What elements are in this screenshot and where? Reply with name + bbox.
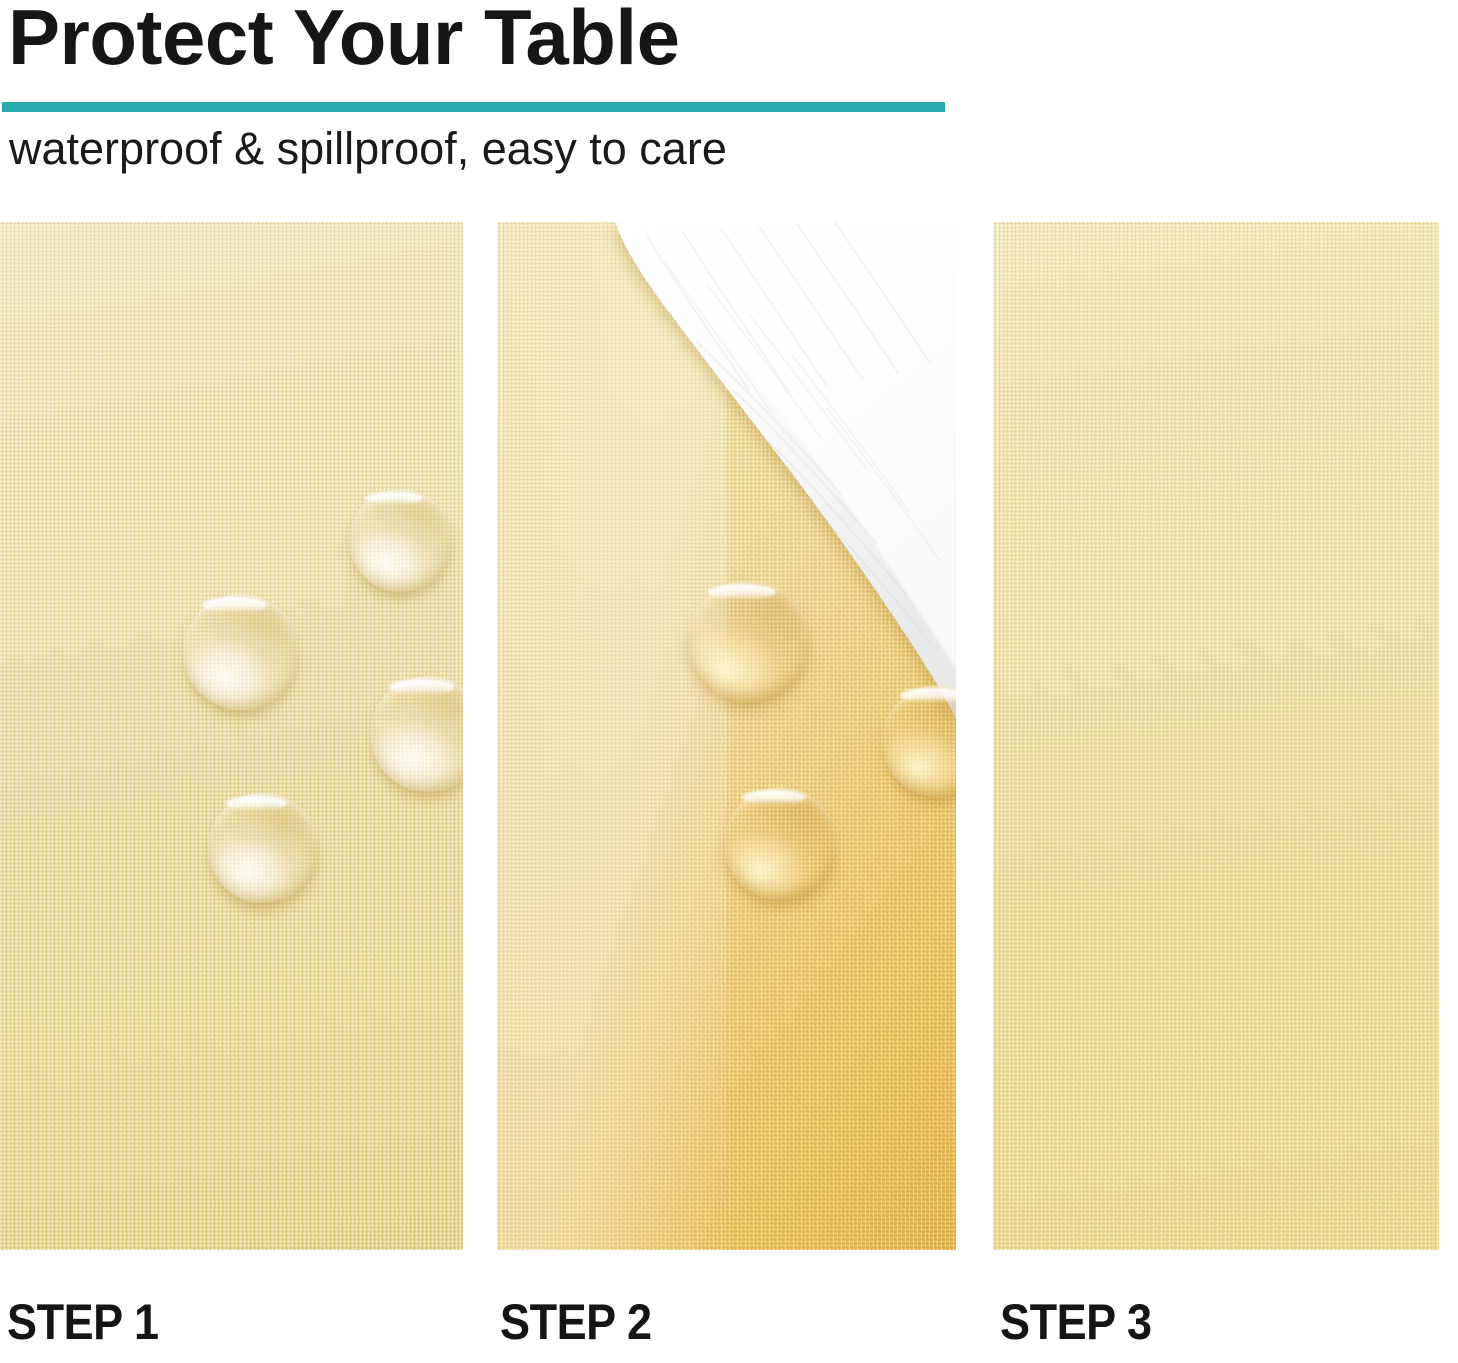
droplet-highlight bbox=[226, 796, 288, 810]
step-label-row: STEP 1 STEP 2 STEP 3 bbox=[0, 1297, 1458, 1363]
water-droplet bbox=[349, 489, 452, 592]
water-droplet bbox=[724, 787, 837, 900]
water-droplet bbox=[208, 793, 318, 903]
droplet-highlight bbox=[742, 790, 805, 805]
page-title: Protect Your Table bbox=[8, 0, 679, 76]
droplet-highlight bbox=[365, 492, 423, 505]
step-3-label: STEP 3 bbox=[1000, 1297, 1152, 1347]
product-feature-graphic: Protect Your Table waterproof & spillpro… bbox=[0, 0, 1458, 1363]
page-subtitle: waterproof & spillproof, easy to care bbox=[9, 124, 727, 174]
step-1-label: STEP 1 bbox=[7, 1297, 159, 1347]
droplet-highlight bbox=[708, 584, 776, 600]
droplet-highlight bbox=[900, 688, 956, 703]
droplet-highlight bbox=[202, 597, 267, 612]
fabric-texture bbox=[993, 222, 1439, 1250]
step-3-image bbox=[993, 222, 1439, 1250]
water-droplet bbox=[688, 580, 810, 702]
step-1-image bbox=[0, 222, 463, 1250]
step-image-row bbox=[0, 222, 1458, 1250]
droplet-highlight bbox=[389, 679, 454, 694]
step-2-label: STEP 2 bbox=[500, 1297, 652, 1347]
title-divider-rule bbox=[2, 102, 945, 112]
step-2-image bbox=[497, 222, 956, 1250]
water-droplet bbox=[183, 594, 299, 710]
